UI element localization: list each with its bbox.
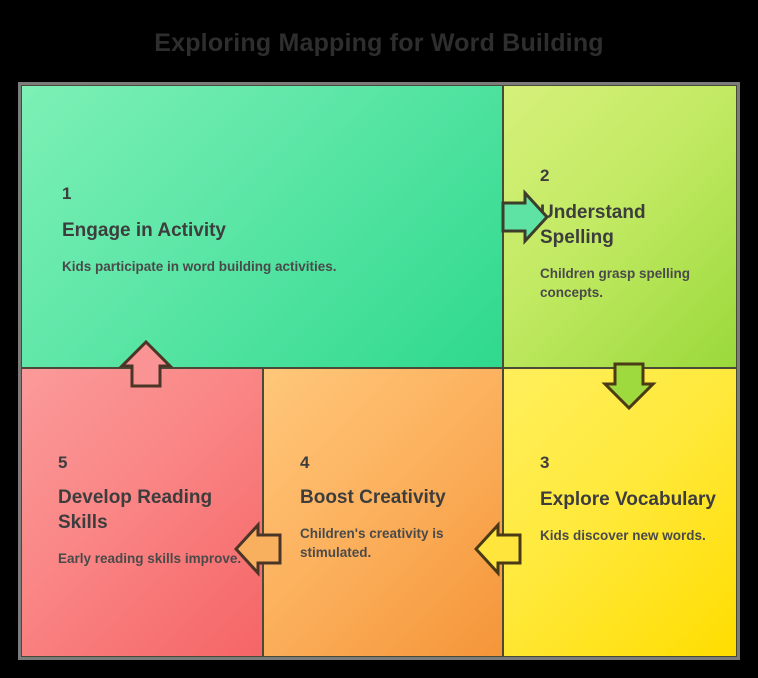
step-card-2-content: 2 Understand Spelling Children grasp spe…: [540, 166, 722, 302]
step-description-2: Children grasp spelling concepts.: [540, 264, 722, 302]
step-number-5: 5: [58, 453, 244, 473]
step-description-3: Kids discover new words.: [540, 526, 722, 545]
arrow-up-icon-step5-to-step1: [118, 340, 174, 388]
step-number-2: 2: [540, 166, 722, 186]
diagram-frame: 1 Engage in Activity Kids participate in…: [18, 82, 740, 660]
arrow-left-icon-step3-to-step4: [474, 521, 522, 577]
arrow-right-icon-step1-to-step2: [501, 189, 549, 245]
arrow-down-icon-step2-to-step3: [601, 362, 657, 410]
step-card-4-content: 4 Boost Creativity Children's creativity…: [300, 453, 488, 562]
step-heading-3: Explore Vocabulary: [540, 487, 722, 512]
step-card-3[interactable]: 3 Explore Vocabulary Kids discover new w…: [503, 368, 737, 657]
step-number-4: 4: [300, 453, 488, 473]
diagram-page: Exploring Mapping for Word Building 1 En…: [0, 0, 758, 678]
step-card-5-content: 5 Develop Reading Skills Early reading s…: [58, 453, 244, 568]
arrow-left-icon-step4-to-step5: [234, 521, 282, 577]
step-card-4[interactable]: 4 Boost Creativity Children's creativity…: [263, 368, 503, 657]
step-description-1: Kids participate in word building activi…: [62, 257, 472, 276]
step-heading-5: Develop Reading Skills: [58, 485, 244, 535]
step-description-5: Early reading skills improve.: [58, 549, 244, 568]
step-card-3-content: 3 Explore Vocabulary Kids discover new w…: [540, 453, 722, 545]
step-card-1-content: 1 Engage in Activity Kids participate in…: [62, 184, 472, 276]
step-number-3: 3: [540, 453, 722, 473]
step-number-1: 1: [62, 184, 472, 204]
step-heading-1: Engage in Activity: [62, 218, 472, 243]
step-description-4: Children's creativity is stimulated.: [300, 524, 488, 562]
step-heading-2: Understand Spelling: [540, 200, 722, 250]
step-heading-4: Boost Creativity: [300, 485, 488, 510]
page-title: Exploring Mapping for Word Building: [0, 26, 758, 60]
step-card-5[interactable]: 5 Develop Reading Skills Early reading s…: [21, 368, 263, 657]
step-card-1[interactable]: 1 Engage in Activity Kids participate in…: [21, 85, 503, 368]
